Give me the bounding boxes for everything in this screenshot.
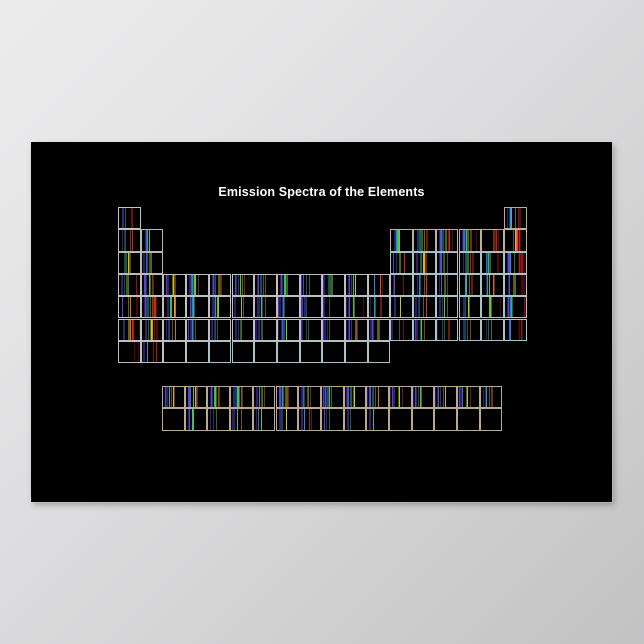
- emission-spectrum: [233, 342, 254, 362]
- element-cell-pd: [322, 296, 345, 318]
- poster-page: Emission Spectra of the Elements: [0, 0, 644, 644]
- emission-spectrum: [482, 275, 503, 295]
- element-cell-rh: [300, 296, 323, 318]
- fblock-cell-gd: [321, 386, 344, 408]
- element-cell-cl: [481, 252, 504, 274]
- fblock-cell-la: [162, 386, 185, 408]
- element-cell-po: [459, 319, 482, 341]
- emission-spectrum: [142, 342, 163, 362]
- emission-spectrum: [482, 320, 503, 340]
- emission-spectrum: [210, 275, 231, 295]
- element-cell-db: [209, 341, 232, 363]
- element-cell-se: [459, 274, 482, 296]
- emission-spectrum: [437, 230, 458, 250]
- element-cell-cu: [345, 274, 368, 296]
- element-cell-f: [481, 229, 504, 251]
- element-cell-rf: [186, 341, 209, 363]
- element-cell-sb: [436, 296, 459, 318]
- emission-spectrum: [233, 275, 254, 295]
- element-cell-sn: [413, 296, 436, 318]
- fblock-cell-tm: [434, 386, 457, 408]
- element-cell-rg: [345, 341, 368, 363]
- element-cell-fe: [277, 274, 300, 296]
- fblock-cell-no: [457, 408, 480, 430]
- fblock-cell-lu2: [480, 386, 503, 408]
- fblock-cell-es: [389, 408, 412, 430]
- emission-spectrum: [505, 230, 526, 250]
- element-cell-au: [345, 319, 368, 341]
- element-cell-bi: [436, 319, 459, 341]
- emission-spectrum: [505, 253, 526, 273]
- emission-spectrum: [369, 297, 390, 317]
- emission-spectrum: [231, 409, 252, 429]
- element-cell-ne: [504, 229, 527, 251]
- emission-spectrum: [187, 275, 208, 295]
- element-cell-rb: [118, 296, 141, 318]
- fblock-cell-cf: [366, 408, 389, 430]
- element-cell-rn: [504, 319, 527, 341]
- fblock-cell-yb: [457, 386, 480, 408]
- fblock-cell-u: [230, 408, 253, 430]
- fblock-cell-pr: [207, 386, 230, 408]
- emission-spectra-poster: Emission Spectra of the Elements: [31, 142, 612, 502]
- emission-spectrum: [345, 409, 366, 429]
- element-cell-zn: [368, 274, 391, 296]
- element-cell-s: [459, 252, 482, 274]
- emission-spectrum: [186, 387, 207, 407]
- element-cell-cn: [368, 341, 391, 363]
- element-cell-he: [504, 207, 527, 229]
- emission-spectrum: [142, 320, 163, 340]
- emission-spectrum: [187, 297, 208, 317]
- emission-spectrum: [301, 297, 322, 317]
- fblock-cell-nd: [230, 386, 253, 408]
- element-cell-xe: [504, 296, 527, 318]
- element-cell-te: [459, 296, 482, 318]
- element-cell-as: [436, 274, 459, 296]
- element-cell-re: [254, 319, 277, 341]
- element-cell-ra: [141, 341, 164, 363]
- element-cell-br: [481, 274, 504, 296]
- emission-spectrum: [505, 320, 526, 340]
- emission-spectrum: [391, 230, 412, 250]
- element-cell-cr: [232, 274, 255, 296]
- emission-spectrum: [460, 297, 481, 317]
- emission-spectrum: [164, 297, 185, 317]
- emission-spectrum: [119, 320, 140, 340]
- element-cell-co: [300, 274, 323, 296]
- fblock-cell-ce: [185, 386, 208, 408]
- emission-spectrum: [210, 342, 231, 362]
- element-cell-ca: [141, 274, 164, 296]
- element-cell-c: [413, 229, 436, 251]
- element-cell-sg: [232, 341, 255, 363]
- emission-spectrum: [119, 275, 140, 295]
- emission-spectrum: [414, 275, 435, 295]
- emission-spectrum: [414, 230, 435, 250]
- emission-spectrum: [437, 320, 458, 340]
- emission-spectrum: [210, 320, 231, 340]
- emission-spectrum: [346, 297, 367, 317]
- element-cell-ba: [141, 319, 164, 341]
- emission-spectrum: [369, 320, 390, 340]
- emission-spectrum: [414, 253, 435, 273]
- element-cell-h: [118, 207, 141, 229]
- emission-spectrum: [346, 342, 367, 362]
- emission-spectrum: [460, 230, 481, 250]
- element-cell-os: [277, 319, 300, 341]
- element-cell-b: [390, 229, 413, 251]
- element-cell-fr: [118, 341, 141, 363]
- emission-spectrum: [278, 342, 299, 362]
- fblock-cell-dy: [366, 386, 389, 408]
- emission-spectrum: [367, 409, 388, 429]
- emission-spectrum: [414, 320, 435, 340]
- element-cell-hs: [277, 341, 300, 363]
- fblock-cell-sm: [276, 386, 299, 408]
- emission-spectrum: [437, 297, 458, 317]
- periodic-table: [31, 142, 612, 502]
- emission-spectrum: [323, 342, 344, 362]
- element-cell-v: [209, 274, 232, 296]
- element-cell-pt: [322, 319, 345, 341]
- emission-spectrum: [346, 275, 367, 295]
- emission-spectrum: [391, 275, 412, 295]
- emission-spectrum: [505, 208, 526, 228]
- element-cell-in: [390, 296, 413, 318]
- emission-spectrum: [163, 409, 184, 429]
- element-cell-ds: [322, 341, 345, 363]
- element-cell-ta: [209, 319, 232, 341]
- emission-spectrum: [460, 253, 481, 273]
- emission-spectrum: [460, 320, 481, 340]
- fblock-cell-np: [253, 408, 276, 430]
- element-cell-pb: [413, 319, 436, 341]
- emission-spectrum: [458, 409, 479, 429]
- emission-spectrum: [391, 253, 412, 273]
- emission-spectrum: [119, 208, 140, 228]
- emission-spectrum: [163, 387, 184, 407]
- element-cell-w: [232, 319, 255, 341]
- emission-spectrum: [187, 342, 208, 362]
- emission-spectrum: [301, 342, 322, 362]
- emission-spectrum: [233, 320, 254, 340]
- emission-spectrum: [142, 297, 163, 317]
- fblock-cell-fm: [412, 408, 435, 430]
- element-cell-zr: [186, 296, 209, 318]
- emission-spectrum: [482, 253, 503, 273]
- fblock-cell-pa: [207, 408, 230, 430]
- emission-spectrum: [323, 320, 344, 340]
- element-cell-ar: [504, 252, 527, 274]
- element-cell-o: [459, 229, 482, 251]
- emission-spectrum: [119, 342, 140, 362]
- emission-spectrum: [278, 275, 299, 295]
- emission-spectrum: [142, 253, 163, 273]
- emission-spectrum: [323, 275, 344, 295]
- element-cell-kr: [504, 274, 527, 296]
- emission-spectrum: [208, 409, 229, 429]
- emission-spectrum: [301, 275, 322, 295]
- element-cell-li: [118, 229, 141, 251]
- element-cell-cd: [368, 296, 391, 318]
- emission-spectrum: [278, 297, 299, 317]
- emission-spectrum: [231, 387, 252, 407]
- emission-spectrum: [390, 409, 411, 429]
- emission-spectrum: [208, 387, 229, 407]
- emission-spectrum: [119, 253, 140, 273]
- emission-spectrum: [301, 320, 322, 340]
- emission-spectrum: [254, 387, 275, 407]
- element-cell-tc: [254, 296, 277, 318]
- emission-spectrum: [390, 387, 411, 407]
- emission-spectrum: [437, 253, 458, 273]
- element-cell-mt: [300, 341, 323, 363]
- emission-spectrum: [119, 230, 140, 250]
- emission-spectrum: [277, 409, 298, 429]
- element-cell-tl: [390, 319, 413, 341]
- emission-spectrum: [255, 320, 276, 340]
- element-cell-ru: [277, 296, 300, 318]
- element-cell-n: [436, 229, 459, 251]
- emission-spectrum: [460, 275, 481, 295]
- emission-spectrum: [255, 342, 276, 362]
- emission-spectrum: [505, 297, 526, 317]
- emission-spectrum: [299, 409, 320, 429]
- element-cell-sr: [141, 296, 164, 318]
- fblock-cell-cm: [321, 408, 344, 430]
- element-cell-hg: [368, 319, 391, 341]
- fblock-cell-pu: [276, 408, 299, 430]
- fblock-cell-er: [412, 386, 435, 408]
- emission-spectrum: [413, 409, 434, 429]
- emission-spectrum: [505, 275, 526, 295]
- emission-spectrum: [345, 387, 366, 407]
- emission-spectrum: [437, 275, 458, 295]
- emission-spectrum: [323, 297, 344, 317]
- emission-spectrum: [413, 387, 434, 407]
- emission-spectrum: [164, 320, 185, 340]
- element-cell-si: [413, 252, 436, 274]
- element-cell-at: [481, 319, 504, 341]
- element-cell-ni: [322, 274, 345, 296]
- fblock-cell-pm: [253, 386, 276, 408]
- emission-spectrum: [482, 297, 503, 317]
- element-cell-y: [163, 296, 186, 318]
- fblock-cell-th: [185, 408, 208, 430]
- element-cell-ge: [413, 274, 436, 296]
- fblock-cell-am: [298, 408, 321, 430]
- element-cell-mo: [232, 296, 255, 318]
- emission-spectrum: [255, 275, 276, 295]
- fblock-cell-md: [434, 408, 457, 430]
- element-cell-sc: [163, 274, 186, 296]
- element-cell-ga: [390, 274, 413, 296]
- emission-spectrum: [254, 409, 275, 429]
- emission-spectrum: [481, 409, 502, 429]
- element-cell-ti: [186, 274, 209, 296]
- emission-spectrum: [299, 387, 320, 407]
- element-cell-lu: [163, 319, 186, 341]
- fblock-cell-ho: [389, 386, 412, 408]
- element-cell-bh: [254, 341, 277, 363]
- emission-spectrum: [186, 409, 207, 429]
- element-cell-nb: [209, 296, 232, 318]
- element-cell-i: [481, 296, 504, 318]
- emission-spectrum: [210, 297, 231, 317]
- element-cell-na: [118, 252, 141, 274]
- element-cell-cs: [118, 319, 141, 341]
- emission-spectrum: [164, 275, 185, 295]
- fblock-cell-ac: [162, 408, 185, 430]
- emission-spectrum: [278, 320, 299, 340]
- element-cell-mn: [254, 274, 277, 296]
- emission-spectrum: [367, 387, 388, 407]
- emission-spectrum: [119, 297, 140, 317]
- element-cell-be: [141, 229, 164, 251]
- emission-spectrum: [369, 342, 390, 362]
- emission-spectrum: [346, 320, 367, 340]
- emission-spectrum: [391, 297, 412, 317]
- emission-spectrum: [233, 297, 254, 317]
- emission-spectrum: [414, 297, 435, 317]
- emission-spectrum: [322, 409, 343, 429]
- fblock-cell-tb: [344, 386, 367, 408]
- emission-spectrum: [391, 320, 412, 340]
- fblock-cell-eu: [298, 386, 321, 408]
- emission-spectrum: [164, 342, 185, 362]
- emission-spectrum: [277, 387, 298, 407]
- element-cell-lr: [163, 341, 186, 363]
- element-cell-k: [118, 274, 141, 296]
- element-cell-ag: [345, 296, 368, 318]
- fblock-cell-bk: [344, 408, 367, 430]
- element-cell-hf: [186, 319, 209, 341]
- emission-spectrum: [142, 230, 163, 250]
- element-cell-ir: [300, 319, 323, 341]
- emission-spectrum: [482, 230, 503, 250]
- emission-spectrum: [369, 275, 390, 295]
- element-cell-mg: [141, 252, 164, 274]
- element-cell-al: [390, 252, 413, 274]
- emission-spectrum: [435, 387, 456, 407]
- emission-spectrum: [481, 387, 502, 407]
- fblock-cell-lr2: [480, 408, 503, 430]
- emission-spectrum: [458, 387, 479, 407]
- emission-spectrum: [255, 297, 276, 317]
- emission-spectrum: [142, 275, 163, 295]
- element-cell-p: [436, 252, 459, 274]
- emission-spectrum: [322, 387, 343, 407]
- emission-spectrum: [435, 409, 456, 429]
- emission-spectrum: [187, 320, 208, 340]
